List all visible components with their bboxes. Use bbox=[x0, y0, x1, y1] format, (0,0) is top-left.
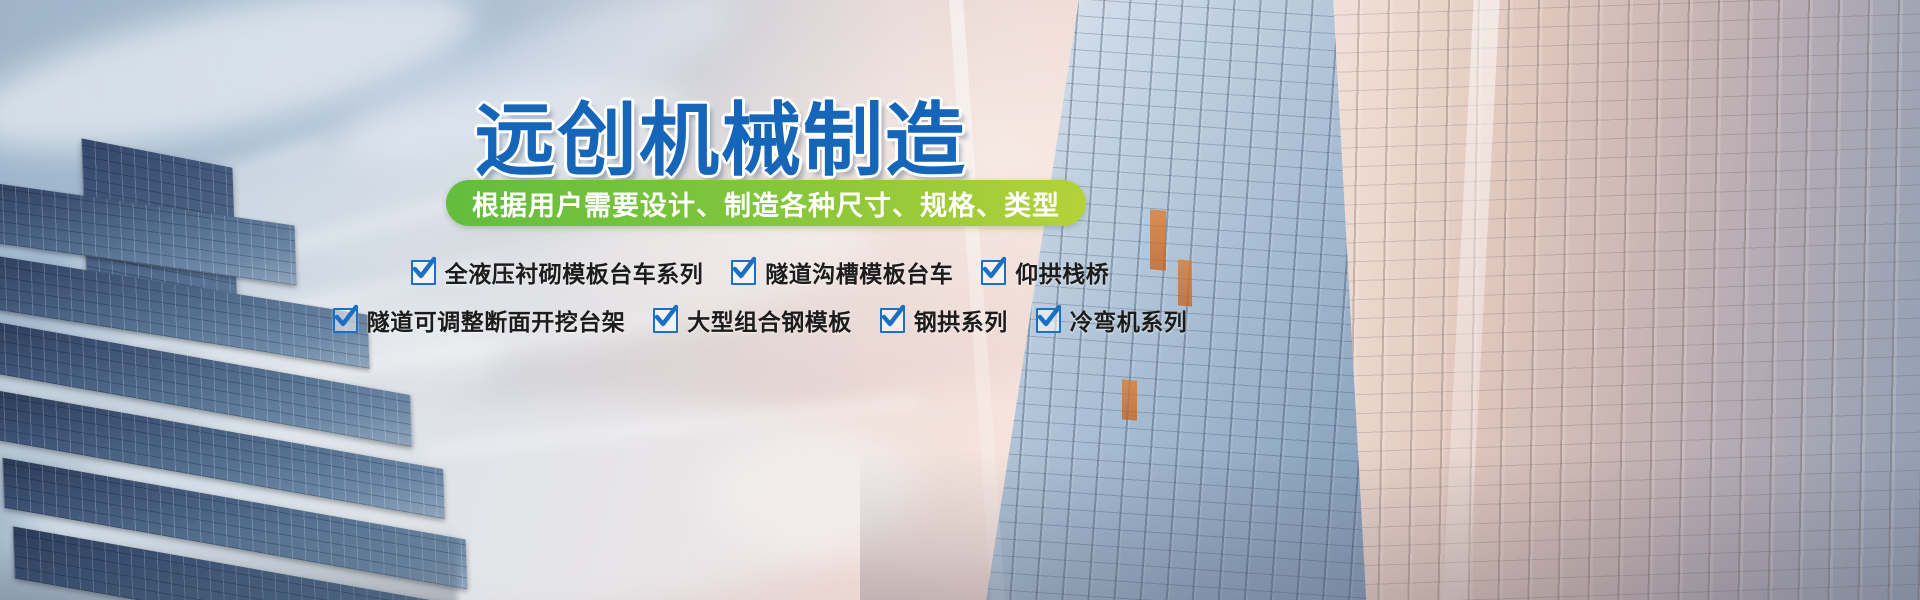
feature-label: 大型组合钢模板 bbox=[687, 303, 852, 337]
checkbox-checked-icon bbox=[653, 308, 678, 333]
feature-label: 冷弯机系列 bbox=[1070, 303, 1188, 337]
feature-item[interactable]: 钢拱系列 bbox=[880, 303, 1008, 337]
checkbox-checked-icon bbox=[880, 308, 905, 333]
feature-label: 仰拱栈桥 bbox=[1015, 255, 1109, 289]
subtitle-pill: 根据用户需要设计、制造各种尺寸、规格、类型 bbox=[446, 180, 1086, 226]
hero-banner: 远创机械制造 根据用户需要设计、制造各种尺寸、规格、类型 全液压衬砌模板台车系列… bbox=[0, 0, 1920, 600]
feature-item[interactable]: 仰拱栈桥 bbox=[981, 255, 1109, 289]
feature-row: 隧道可调整断面开挖台架 大型组合钢模板 钢拱系列 bbox=[0, 303, 1520, 337]
feature-item[interactable]: 隧道可调整断面开挖台架 bbox=[333, 303, 626, 337]
feature-item[interactable]: 大型组合钢模板 bbox=[653, 303, 852, 337]
feature-label: 隧道沟槽模板台车 bbox=[765, 255, 953, 289]
feature-label: 全液压衬砌模板台车系列 bbox=[445, 255, 704, 289]
feature-label: 钢拱系列 bbox=[914, 303, 1008, 337]
feature-item[interactable]: 冷弯机系列 bbox=[1036, 303, 1188, 337]
checkbox-checked-icon bbox=[1036, 308, 1061, 333]
checkbox-checked-icon bbox=[411, 260, 436, 285]
banner-content: 远创机械制造 根据用户需要设计、制造各种尺寸、规格、类型 全液压衬砌模板台车系列… bbox=[0, 0, 1920, 600]
feature-label: 隧道可调整断面开挖台架 bbox=[367, 303, 626, 337]
banner-title: 远创机械制造 bbox=[475, 76, 967, 192]
checkbox-checked-icon bbox=[333, 308, 358, 333]
feature-row: 全液压衬砌模板台车系列 隧道沟槽模板台车 仰拱栈桥 bbox=[0, 255, 1520, 289]
checkbox-checked-icon bbox=[981, 260, 1006, 285]
feature-item[interactable]: 隧道沟槽模板台车 bbox=[731, 255, 953, 289]
feature-list: 全液压衬砌模板台车系列 隧道沟槽模板台车 仰拱栈桥 bbox=[0, 255, 1520, 351]
checkbox-checked-icon bbox=[731, 260, 756, 285]
feature-item[interactable]: 全液压衬砌模板台车系列 bbox=[411, 255, 704, 289]
subtitle-text: 根据用户需要设计、制造各种尺寸、规格、类型 bbox=[472, 184, 1060, 223]
